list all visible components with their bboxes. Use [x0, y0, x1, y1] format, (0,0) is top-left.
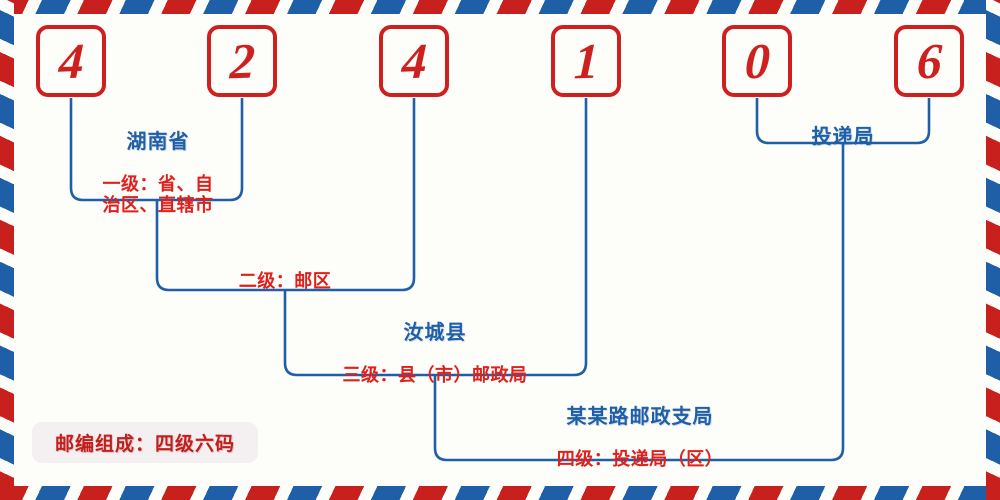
level-5-label: 投递局: [763, 107, 923, 167]
digit-6-glyph: 6: [916, 36, 943, 87]
level-2-subtitle: 二级：邮区: [175, 271, 395, 292]
postcode-digit-box-2[interactable]: 2: [207, 25, 277, 97]
postcode-digit-box-1[interactable]: 4: [36, 25, 106, 97]
postcode-digit-box-4[interactable]: 1: [551, 25, 621, 97]
airmail-border-bottom: [0, 486, 1000, 500]
digit-5-glyph: 0: [744, 36, 771, 87]
level-2-label: 二级：邮区: [175, 250, 395, 310]
airmail-border-top: [0, 0, 1000, 14]
postcode-digit-box-3[interactable]: 4: [379, 25, 449, 97]
envelope-diagram: 4 2 4 1 0 6 湖南省 一级：省、自 治区、直辖市 二级：邮区 汝城县 …: [0, 0, 1000, 500]
digit-4-glyph: 1: [573, 36, 600, 87]
digit-2-glyph: 2: [229, 36, 256, 87]
level-3-title: 汝城县: [295, 322, 575, 345]
level-3-subtitle: 三级：县（市）邮政局: [295, 365, 575, 386]
level-5-title: 投递局: [763, 126, 923, 149]
level-1-label: 湖南省 一级：省、自 治区、直辖市: [78, 112, 238, 235]
level-4-subtitle: 四级：投递局（区）: [450, 449, 830, 470]
level-4-label: 某某路邮政支局 四级：投递局（区）: [450, 387, 830, 489]
level-1-title: 湖南省: [78, 131, 238, 154]
level-4-title: 某某路邮政支局: [450, 406, 830, 429]
digit-1-glyph: 4: [58, 36, 85, 87]
digit-3-glyph: 4: [401, 36, 428, 87]
badge-label: 邮编组成：四级六码: [55, 429, 235, 456]
postcode-composition-badge: 邮编组成：四级六码: [32, 422, 258, 463]
airmail-border-right: [986, 0, 1000, 500]
airmail-border-left: [0, 0, 14, 500]
level-1-subtitle: 一级：省、自 治区、直辖市: [78, 174, 238, 216]
postcode-digit-box-5[interactable]: 0: [722, 25, 792, 97]
postcode-digit-box-6[interactable]: 6: [894, 25, 964, 97]
